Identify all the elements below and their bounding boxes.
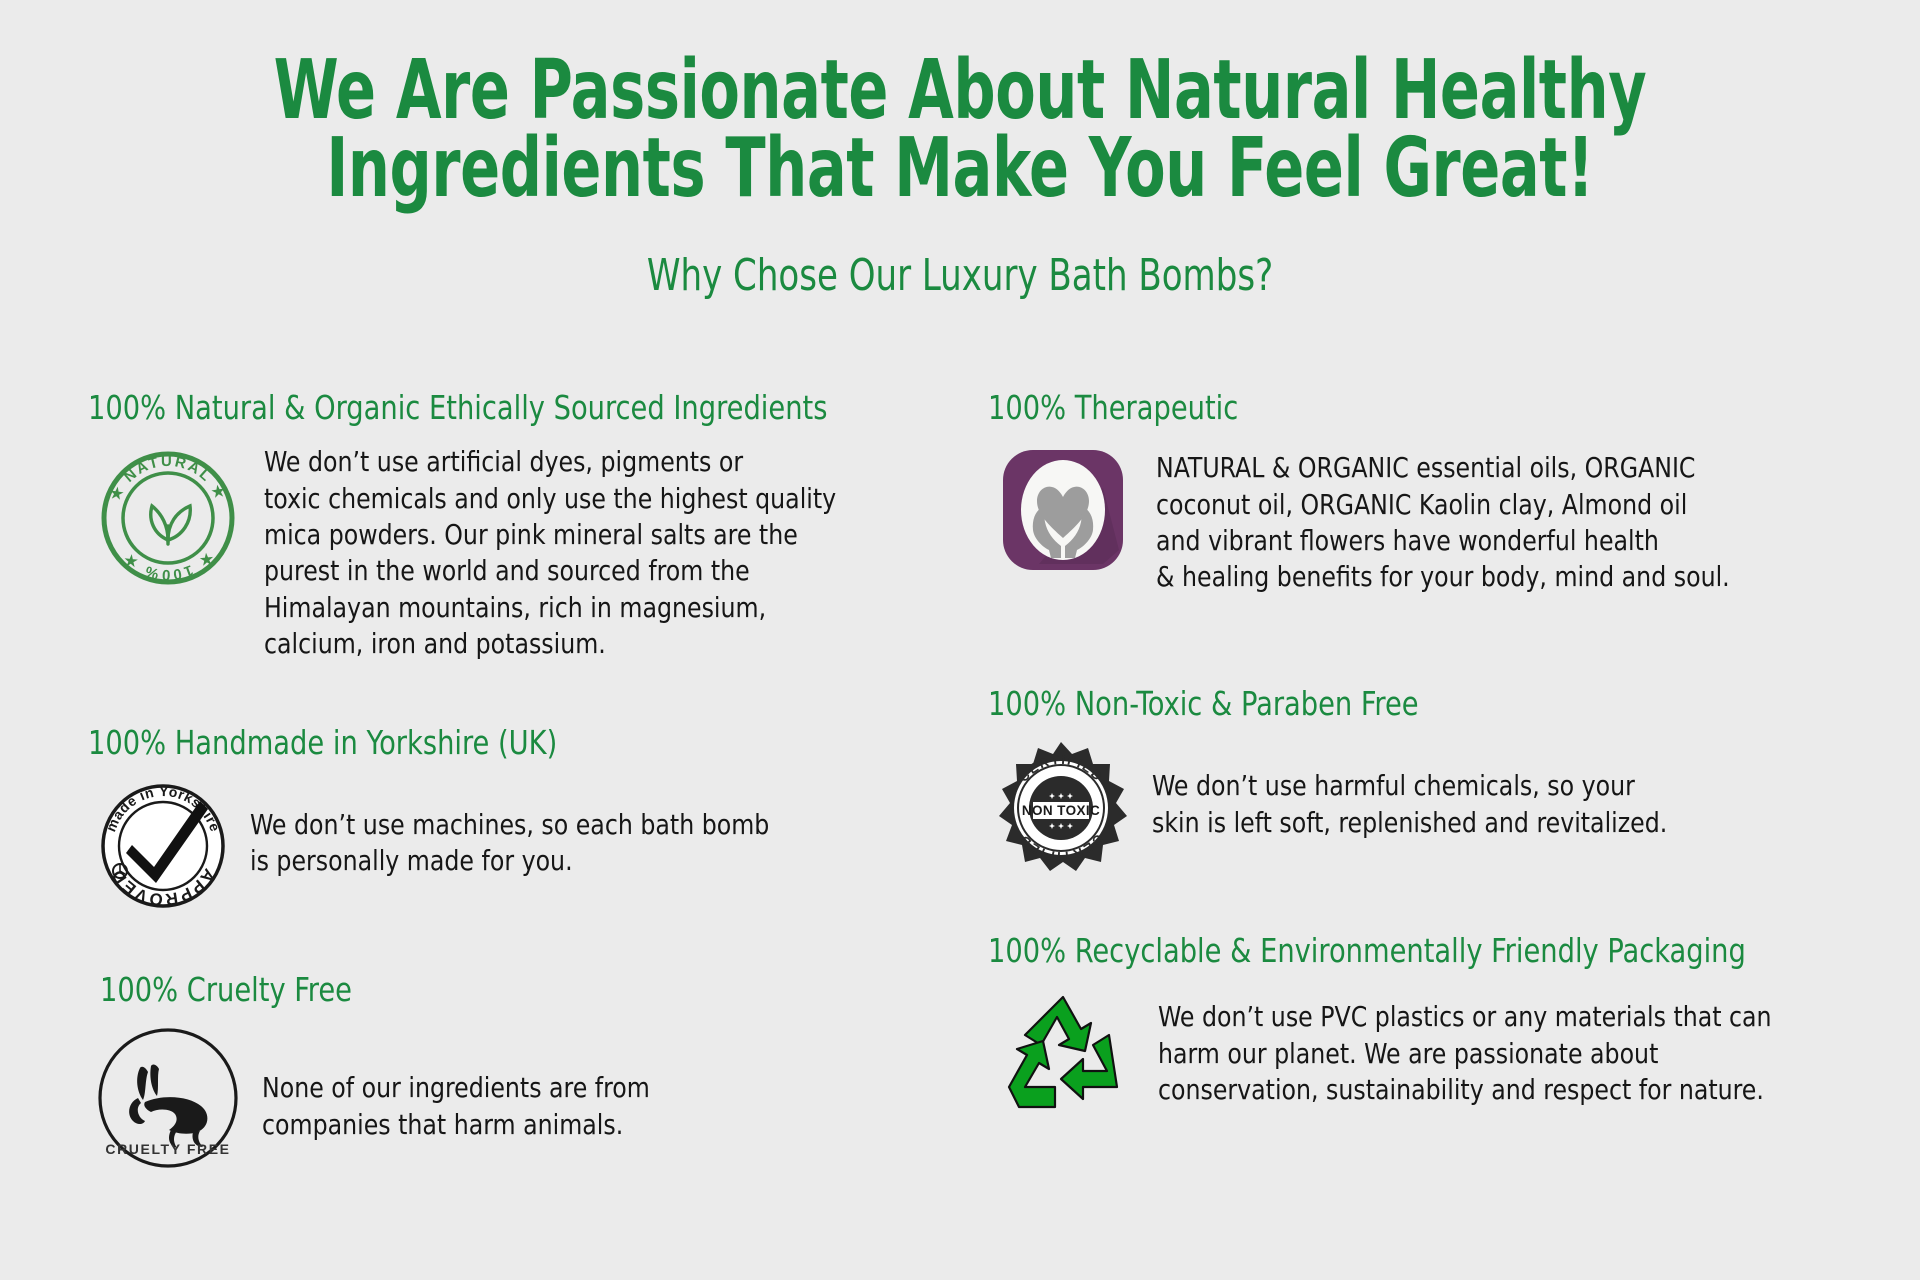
feature-text-therapeutic: NATURAL & ORGANIC essential oils, ORGANI…: [1156, 442, 1730, 596]
certified-non-toxic-badge-icon: · CERTIFIED · · CERTIFIED · NON TOXIC: [988, 738, 1138, 875]
feature-text-handmade: We don’t use machines, so each bath bomb…: [250, 777, 769, 880]
header: We Are Passionate About Natural Healthy …: [0, 0, 1920, 301]
feature-title-cruelty: 100% Cruelty Free: [100, 972, 899, 1008]
feature-handmade-yorkshire: 100% Handmade in Yorkshire (UK) made in …: [88, 725, 968, 914]
page-headline: We Are Passionate About Natural Healthy …: [192, 52, 1728, 208]
feature-natural-organic: 100% Natural & Organic Ethically Sourced…: [88, 390, 968, 663]
cruelty-free-rabbit-icon: CRUELTY FREE: [88, 1024, 248, 1171]
feature-cruelty-free: 100% Cruelty Free: [88, 972, 968, 1171]
heart-in-hands-icon: [988, 442, 1138, 574]
svg-text:★ 100% ★: ★ 100% ★: [119, 549, 217, 584]
feature-body-therapeutic: NATURAL & ORGANIC essential oils, ORGANI…: [988, 442, 1888, 596]
feature-therapeutic: 100% Therapeutic NATURAL & ORGANIC essen…: [988, 390, 1888, 596]
feature-body-nontoxic: · CERTIFIED · · CERTIFIED · NON TOXIC We…: [988, 738, 1888, 875]
svg-text:CRUELTY FREE: CRUELTY FREE: [105, 1141, 230, 1157]
feature-text-nontoxic: We don’t use harmful chemicals, so your …: [1152, 738, 1667, 841]
feature-text-natural: We don’t use artificial dyes, pigments o…: [264, 442, 836, 662]
feature-body-cruelty: CRUELTY FREE None of our ingredients are…: [88, 1024, 968, 1171]
page-subtitle: Why Chose Our Luxury Bath Bombs?: [134, 250, 1785, 301]
svg-text:NON TOXIC: NON TOXIC: [1022, 803, 1100, 818]
svg-text:★ NATURAL ★: ★ NATURAL ★: [106, 453, 229, 504]
feature-non-toxic: 100% Non-Toxic & Paraben Free: [988, 686, 1888, 875]
feature-title-natural: 100% Natural & Organic Ethically Sourced…: [88, 390, 898, 426]
yorkshire-approved-stamp-icon: made in Yorkshire APPROVED: [88, 777, 238, 914]
features-column-right: 100% Therapeutic NATURAL & ORGANIC essen…: [988, 390, 1888, 1113]
feature-recyclable-packaging: 100% Recyclable & Environmentally Friend…: [988, 933, 1888, 1113]
feature-title-nontoxic: 100% Non-Toxic & Paraben Free: [988, 686, 1816, 722]
feature-body-handmade: made in Yorkshire APPROVED We don’t use …: [88, 777, 968, 914]
recycling-symbol-icon: [988, 985, 1138, 1113]
features-column-left: 100% Natural & Organic Ethically Sourced…: [88, 390, 968, 1171]
feature-title-recycle: 100% Recyclable & Environmentally Friend…: [988, 933, 1816, 969]
natural-stamp-icon: ★ NATURAL ★ ★ 100% ★: [88, 442, 248, 588]
feature-text-recycle: We don’t use PVC plastics or any materia…: [1158, 985, 1772, 1108]
feature-text-cruelty: None of our ingredients are from compani…: [262, 1024, 650, 1143]
feature-title-handmade: 100% Handmade in Yorkshire (UK): [88, 725, 898, 761]
feature-body-recycle: We don’t use PVC plastics or any materia…: [988, 985, 1888, 1113]
feature-body-natural: ★ NATURAL ★ ★ 100% ★: [88, 442, 968, 662]
feature-title-therapeutic: 100% Therapeutic: [988, 390, 1816, 426]
infographic-page: We Are Passionate About Natural Healthy …: [0, 0, 1920, 1280]
